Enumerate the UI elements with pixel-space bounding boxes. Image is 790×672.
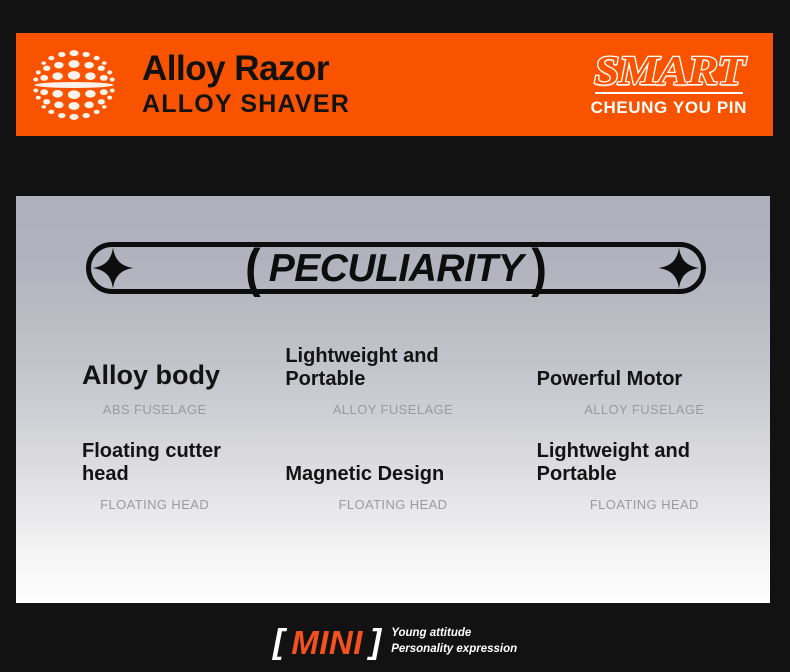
feature-caption: FLOATING HEAD bbox=[60, 497, 249, 512]
page-root: Alloy Razor ALLOY SHAVER SMART CHEUNG YO… bbox=[0, 0, 790, 672]
dotted-globe-icon bbox=[32, 43, 116, 127]
feature-caption: ALLOY FUSELAGE bbox=[285, 402, 500, 417]
feature-item: Magnetic Design FLOATING HEAD bbox=[267, 439, 518, 512]
banner-title: PECULIARITY bbox=[263, 249, 530, 288]
tagline-line-1: Young attitude bbox=[391, 626, 517, 642]
feature-item: Floating cutter head FLOATING HEAD bbox=[16, 439, 267, 512]
smart-wordmark: SMART bbox=[594, 51, 744, 90]
product-header-banner: Alloy Razor ALLOY SHAVER SMART CHEUNG YO… bbox=[16, 33, 773, 136]
feature-caption: ABS FUSELAGE bbox=[60, 402, 249, 417]
smart-divider bbox=[595, 92, 743, 94]
banner-open-paren: ( bbox=[245, 246, 261, 291]
feature-caption: ALLOY FUSELAGE bbox=[537, 402, 752, 417]
feature-grid: Alloy body ABS FUSELAGE Lightweight and … bbox=[16, 344, 770, 512]
feature-caption: FLOATING HEAD bbox=[285, 497, 500, 512]
feature-title: Floating cutter head bbox=[82, 439, 249, 487]
smart-chinese-brand: CHEUNG YOU PIN bbox=[591, 98, 747, 118]
feature-item: Lightweight and Portable ALLOY FUSELAGE bbox=[267, 344, 518, 417]
feature-item: Lightweight and Portable FLOATING HEAD bbox=[519, 439, 770, 512]
bracket-right: ] bbox=[370, 625, 381, 659]
four-point-sparkle-icon bbox=[91, 246, 135, 290]
smart-brand-logo: SMART CHEUNG YOU PIN bbox=[591, 51, 747, 119]
peculiarity-banner: ( PECULIARITY ) bbox=[86, 242, 706, 294]
feature-title: Powerful Motor bbox=[537, 344, 752, 392]
bracket-left: [ bbox=[273, 625, 284, 659]
page-footer: [ MINI ] Young attitude Personality expr… bbox=[0, 612, 790, 672]
feature-item: Alloy body ABS FUSELAGE bbox=[16, 344, 267, 417]
four-point-sparkle-icon bbox=[657, 246, 701, 290]
mini-logo: [ MINI ] bbox=[273, 625, 381, 659]
banner-close-paren: ) bbox=[531, 246, 547, 291]
feature-title: Lightweight and Portable bbox=[285, 344, 500, 392]
brand-logo bbox=[28, 39, 120, 131]
feature-caption: FLOATING HEAD bbox=[537, 497, 752, 512]
product-title: Alloy Razor bbox=[142, 51, 350, 88]
banner-center-group: ( PECULIARITY ) bbox=[139, 248, 653, 288]
feature-title: Alloy body bbox=[82, 344, 249, 392]
tagline-line-2: Personality expression bbox=[391, 642, 517, 658]
footer-tagline: Young attitude Personality expression bbox=[391, 626, 517, 657]
mini-wordmark: MINI bbox=[291, 626, 363, 659]
feature-title: Lightweight and Portable bbox=[537, 439, 752, 487]
features-panel: ( PECULIARITY ) Alloy body ABS FUSELAGE … bbox=[16, 196, 770, 603]
product-subtitle: ALLOY SHAVER bbox=[142, 90, 350, 119]
feature-title: Magnetic Design bbox=[285, 439, 500, 487]
brand-text-block: Alloy Razor ALLOY SHAVER bbox=[142, 51, 350, 119]
feature-item: Powerful Motor ALLOY FUSELAGE bbox=[519, 344, 770, 417]
